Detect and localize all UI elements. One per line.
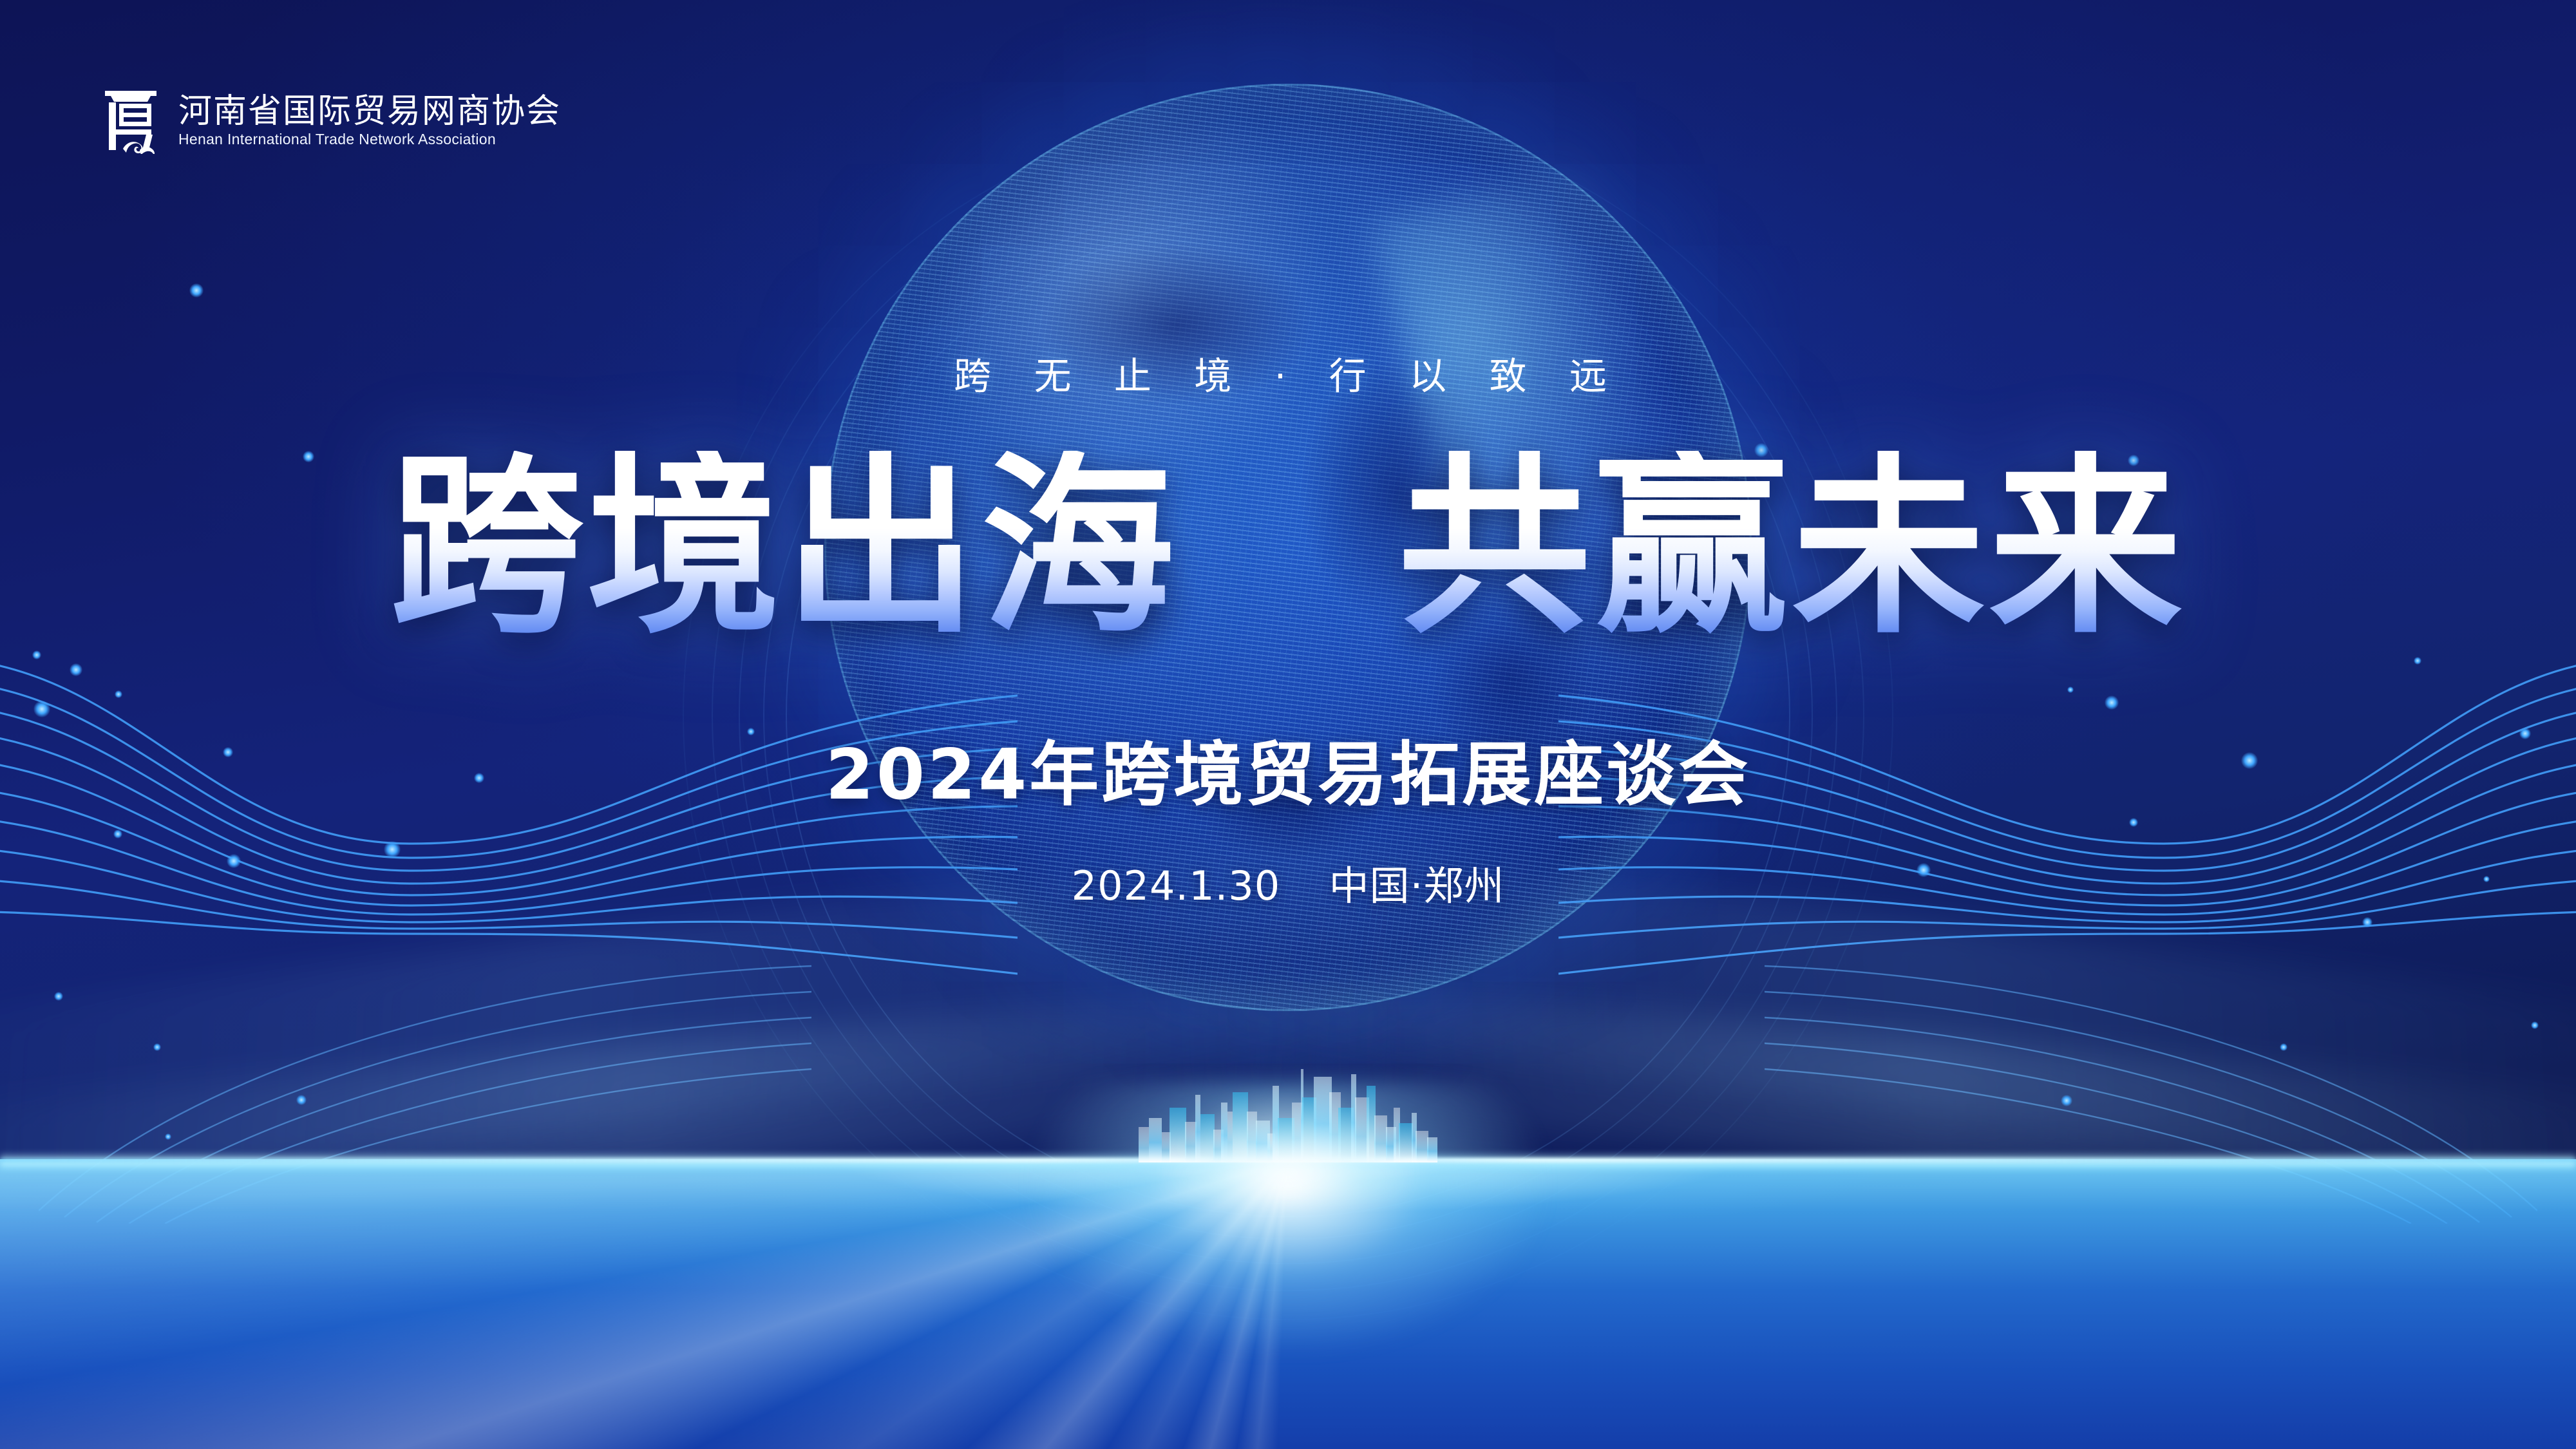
event-date: 2024.1.30 bbox=[1072, 862, 1281, 909]
particle bbox=[113, 829, 122, 838]
organization-name-cn: 河南省国际贸易网商协会 bbox=[178, 95, 561, 128]
particle bbox=[33, 701, 50, 717]
particle bbox=[153, 1043, 161, 1051]
particle bbox=[2519, 728, 2531, 739]
headline-part-1: 跨境出海 bbox=[390, 451, 1179, 644]
particle bbox=[384, 841, 401, 858]
particle bbox=[165, 1133, 171, 1140]
particle bbox=[32, 650, 41, 659]
event-meta: 2024.1.30 中国·郑州 bbox=[0, 866, 2576, 906]
particle bbox=[2105, 696, 2119, 710]
henan-seal-logo-icon bbox=[100, 87, 162, 154]
particle bbox=[2531, 1021, 2539, 1029]
particle bbox=[296, 1095, 307, 1105]
particle bbox=[189, 283, 204, 298]
particle bbox=[747, 728, 755, 735]
particle bbox=[2129, 818, 2138, 827]
particle bbox=[115, 690, 122, 698]
particle bbox=[2414, 657, 2421, 665]
poster-tagline: 跨 无 止 境 · 行 以 致 远 bbox=[0, 357, 2576, 395]
organization-name-en: Henan International Trade Network Associ… bbox=[178, 132, 561, 147]
particle bbox=[2061, 1095, 2072, 1106]
particle bbox=[2280, 1043, 2287, 1051]
particle bbox=[54, 992, 63, 1001]
poster-canvas: 河南省国际贸易网商协会 Henan International Trade Ne… bbox=[0, 0, 2576, 1449]
organization-logo: 河南省国际贸易网商协会 Henan International Trade Ne… bbox=[100, 87, 561, 154]
particle bbox=[2362, 917, 2372, 927]
particle bbox=[70, 663, 82, 676]
particle bbox=[2067, 687, 2074, 693]
poster-subtitle: 2024年跨境贸易拓展座谈会 bbox=[0, 741, 2576, 810]
headline-part-2: 共赢未来 bbox=[1397, 451, 2186, 644]
poster-headline: 跨境出海 共赢未来 bbox=[0, 451, 2576, 644]
city-base-glow bbox=[1172, 1095, 1404, 1191]
event-location: 中国·郑州 bbox=[1329, 862, 1505, 909]
